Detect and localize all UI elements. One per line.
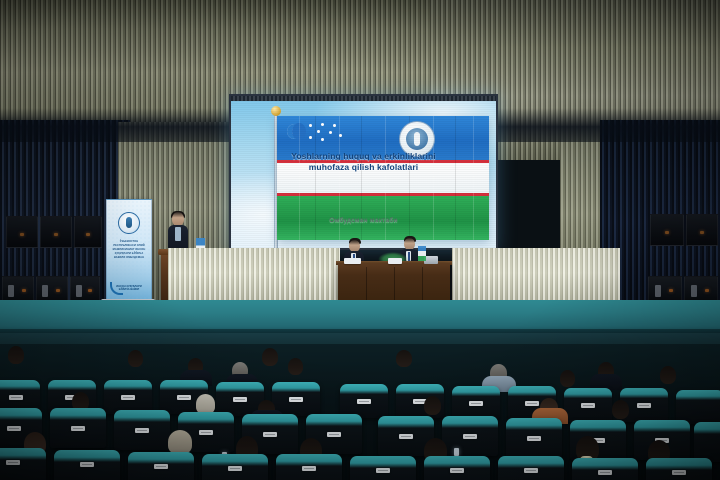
seat-number-tag (80, 462, 94, 467)
screen-title-line2: muhofaza qilish kafolatlari (231, 162, 496, 173)
audience-head (288, 358, 303, 375)
audience-head (396, 350, 412, 367)
seat-number-tag (7, 426, 21, 431)
banner-heading: ЎЗБЕКИСТОН РЕСПУБЛИКАСИ ОЛИЙ МАЖЛИСИНИНГ… (111, 240, 147, 260)
podium-speaker-shirt (175, 227, 181, 241)
audience-head (612, 400, 629, 419)
seat-number-tag (228, 466, 242, 471)
presidium-table (338, 263, 450, 303)
screen-top-frame (231, 96, 496, 101)
audience-seat[interactable] (506, 418, 562, 458)
flag-star (329, 131, 332, 134)
seat-number-tag (527, 436, 541, 441)
table-laptop (424, 256, 438, 264)
flag-star (309, 124, 312, 127)
seat-number-tag (581, 403, 595, 408)
audience-seat[interactable] (276, 454, 342, 480)
smartphone-icon[interactable] (454, 448, 459, 456)
seat-number-tag (177, 395, 191, 400)
screen-title: Yoshlarning huquq va erkinliklarini muho… (231, 151, 496, 173)
audience-head (262, 348, 278, 366)
audience-seat[interactable] (202, 454, 268, 480)
projection-screen: Yoshlarning huquq va erkinliklarini muho… (231, 96, 496, 248)
seat-number-tag (327, 432, 341, 437)
audience-seat[interactable] (50, 408, 106, 448)
audience-seat[interactable] (0, 448, 46, 480)
seat-number-tag (357, 399, 371, 404)
conference-hall-photo: Yoshlarning huquq va erkinliklarini muho… (0, 0, 720, 480)
seat-number-tag (399, 434, 413, 439)
audience-seat[interactable] (424, 456, 490, 480)
seat-number-tag (525, 401, 539, 406)
banner-emblem-icon (118, 212, 140, 234)
seat-number-tag (6, 460, 20, 465)
screen-title-line1: Yoshlarning huquq va erkinliklarini (231, 151, 496, 162)
audience-seat[interactable] (572, 458, 638, 480)
audience-seat[interactable] (340, 384, 388, 418)
audience-seat[interactable] (646, 458, 712, 480)
seat-number-tag (598, 470, 612, 475)
seat-number-tag (199, 430, 213, 435)
audience-head (8, 346, 24, 364)
audience-seat[interactable] (564, 388, 612, 422)
seat-number-tag (9, 395, 23, 400)
seat-number-tag (135, 428, 149, 433)
flag-star (321, 138, 324, 141)
table-flag-icon (418, 246, 426, 261)
audience-head (660, 366, 676, 384)
table-papers (388, 258, 402, 264)
podium-speaker-head (172, 212, 184, 226)
seat-number-tag (263, 432, 277, 437)
audience-seat[interactable] (104, 380, 152, 414)
seat-number-tag (450, 468, 464, 473)
seat-number-tag (637, 403, 651, 408)
audience-seat[interactable] (676, 390, 720, 424)
audience-seat[interactable] (498, 456, 564, 480)
seat-number-tag (121, 395, 135, 400)
seat-number-tag (71, 426, 85, 431)
audience-head (424, 396, 441, 415)
flag-star (333, 124, 336, 127)
audience-head-hijab (168, 430, 192, 454)
seat-number-tag (233, 397, 247, 402)
audience-seat[interactable] (54, 450, 120, 480)
seat-number-tag (154, 464, 168, 469)
audience-seat[interactable] (442, 416, 498, 456)
official-right-tie (408, 252, 410, 261)
audience-head-hijab (196, 394, 215, 414)
audience-seat[interactable] (114, 410, 170, 450)
flag-star (309, 136, 312, 139)
screen-subtitle: Омбудсман мактаби (231, 216, 496, 225)
seat-number-tag (463, 434, 477, 439)
audience-head (128, 350, 143, 367)
audience-seat[interactable] (350, 456, 416, 480)
seat-number-tag (302, 466, 316, 471)
table-papers (344, 258, 361, 264)
banner-footer: ИНСОН ҲУҚУҚЛАРИ БЎЙИЧА ВАКИЛ (111, 285, 147, 292)
audience-seat[interactable] (694, 422, 720, 462)
audience-seat[interactable] (128, 452, 194, 480)
rollup-banner: ЎЗБЕКИСТОН РЕСПУБЛИКАСИ ОЛИЙ МАЖЛИСИНИНГ… (106, 199, 152, 302)
flag-star (317, 130, 320, 133)
flag-star (321, 123, 324, 126)
seat-number-tag (289, 397, 303, 402)
audience-seating-area (0, 344, 720, 480)
audience-head (560, 370, 575, 387)
seat-number-tag (672, 470, 686, 475)
audience-seat[interactable] (452, 386, 500, 420)
seat-number-tag (469, 401, 483, 406)
flagpole-finial-icon (271, 106, 281, 116)
seat-number-tag (376, 468, 390, 473)
seat-number-tag (524, 468, 538, 473)
